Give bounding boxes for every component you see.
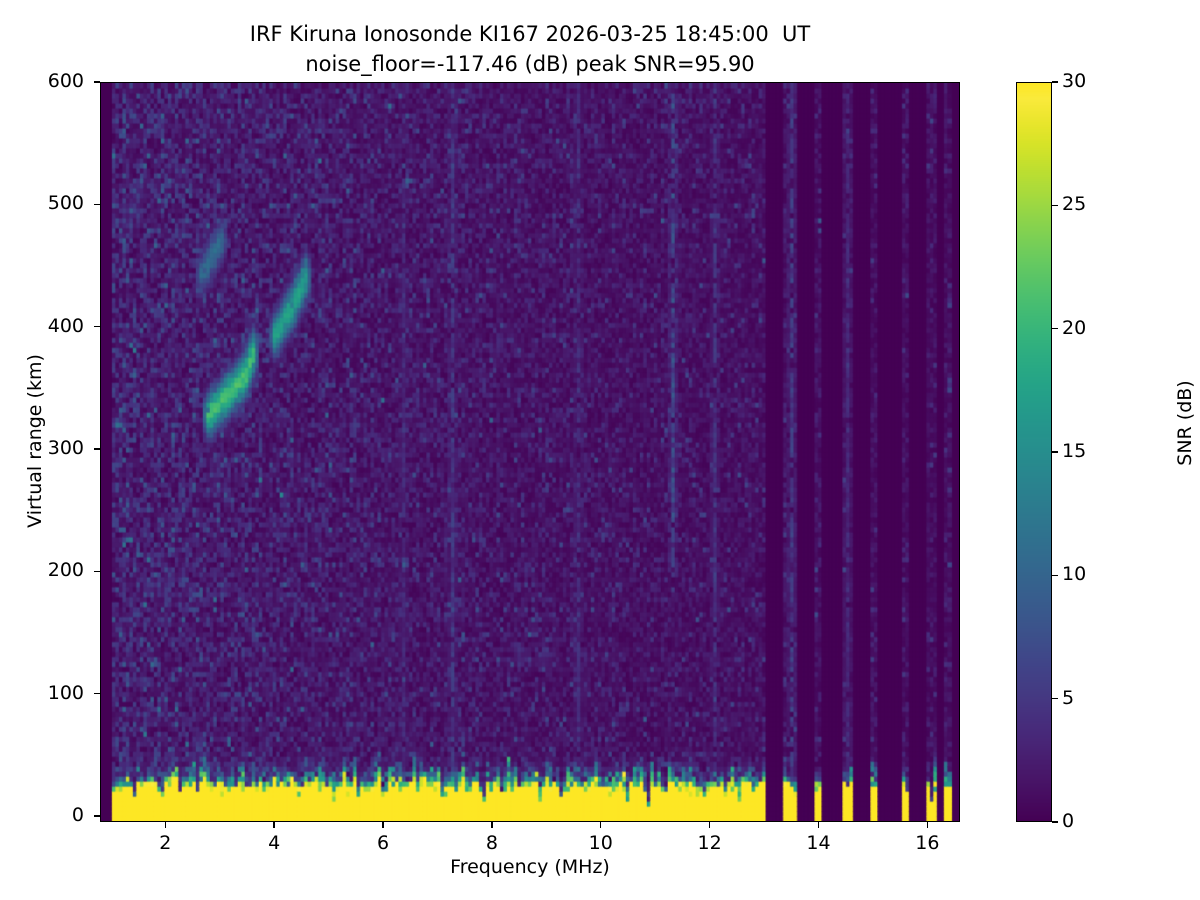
- x-axis-label: Frequency (MHz): [100, 856, 960, 878]
- colorbar-tick-label: 5: [1062, 687, 1122, 709]
- x-tick-mark: [382, 822, 383, 828]
- colorbar: [1016, 82, 1052, 822]
- x-tick-mark: [165, 822, 166, 828]
- colorbar-gradient: [1016, 82, 1052, 822]
- x-tick-label: 16: [897, 832, 957, 854]
- colorbar-tick-mark: [1052, 328, 1058, 329]
- colorbar-tick-label: 25: [1062, 193, 1122, 215]
- colorbar-tick-label: 0: [1062, 810, 1122, 832]
- y-tick-label: 500: [24, 192, 84, 214]
- y-axis-label: Virtual range (km): [24, 331, 46, 551]
- ionogram-axes: [100, 82, 960, 822]
- y-tick-label: 0: [24, 804, 84, 826]
- y-tick-mark: [94, 571, 100, 572]
- colorbar-tick-mark: [1052, 821, 1058, 822]
- y-tick-mark: [94, 204, 100, 205]
- colorbar-tick-label: 20: [1062, 317, 1122, 339]
- x-tick-mark: [709, 822, 710, 828]
- y-tick-label: 100: [24, 682, 84, 704]
- y-tick-mark: [94, 448, 100, 449]
- colorbar-tick-mark: [1052, 81, 1058, 82]
- colorbar-tick-mark: [1052, 451, 1058, 452]
- y-tick-mark: [94, 81, 100, 82]
- y-tick-mark: [94, 326, 100, 327]
- y-tick-mark: [94, 693, 100, 694]
- x-tick-label: 4: [244, 832, 304, 854]
- x-tick-label: 10: [571, 832, 631, 854]
- colorbar-tick-mark: [1052, 698, 1058, 699]
- colorbar-tick-label: 15: [1062, 440, 1122, 462]
- y-tick-label: 600: [24, 70, 84, 92]
- x-tick-mark: [491, 822, 492, 828]
- x-tick-label: 8: [462, 832, 522, 854]
- x-tick-mark: [818, 822, 819, 828]
- colorbar-tick-mark: [1052, 575, 1058, 576]
- ionogram-figure: IRF Kiruna Ionosonde KI167 2026-03-25 18…: [0, 0, 1200, 900]
- figure-subtitle-line2: noise_floor=-117.46 (dB) peak SNR=95.90: [0, 52, 1060, 76]
- ionogram-heatmap: [101, 83, 959, 821]
- x-tick-label: 6: [353, 832, 413, 854]
- y-tick-label: 200: [24, 559, 84, 581]
- x-tick-label: 12: [680, 832, 740, 854]
- x-tick-label: 2: [135, 832, 195, 854]
- x-tick-mark: [927, 822, 928, 828]
- figure-title-line1: IRF Kiruna Ionosonde KI167 2026-03-25 18…: [0, 22, 1060, 46]
- y-tick-mark: [94, 815, 100, 816]
- x-tick-label: 14: [788, 832, 848, 854]
- x-tick-mark: [273, 822, 274, 828]
- colorbar-tick-label: 30: [1062, 70, 1122, 92]
- x-tick-mark: [600, 822, 601, 828]
- colorbar-tick-label: 10: [1062, 563, 1122, 585]
- colorbar-tick-mark: [1052, 205, 1058, 206]
- colorbar-label: SNR (dB): [1174, 313, 1196, 533]
